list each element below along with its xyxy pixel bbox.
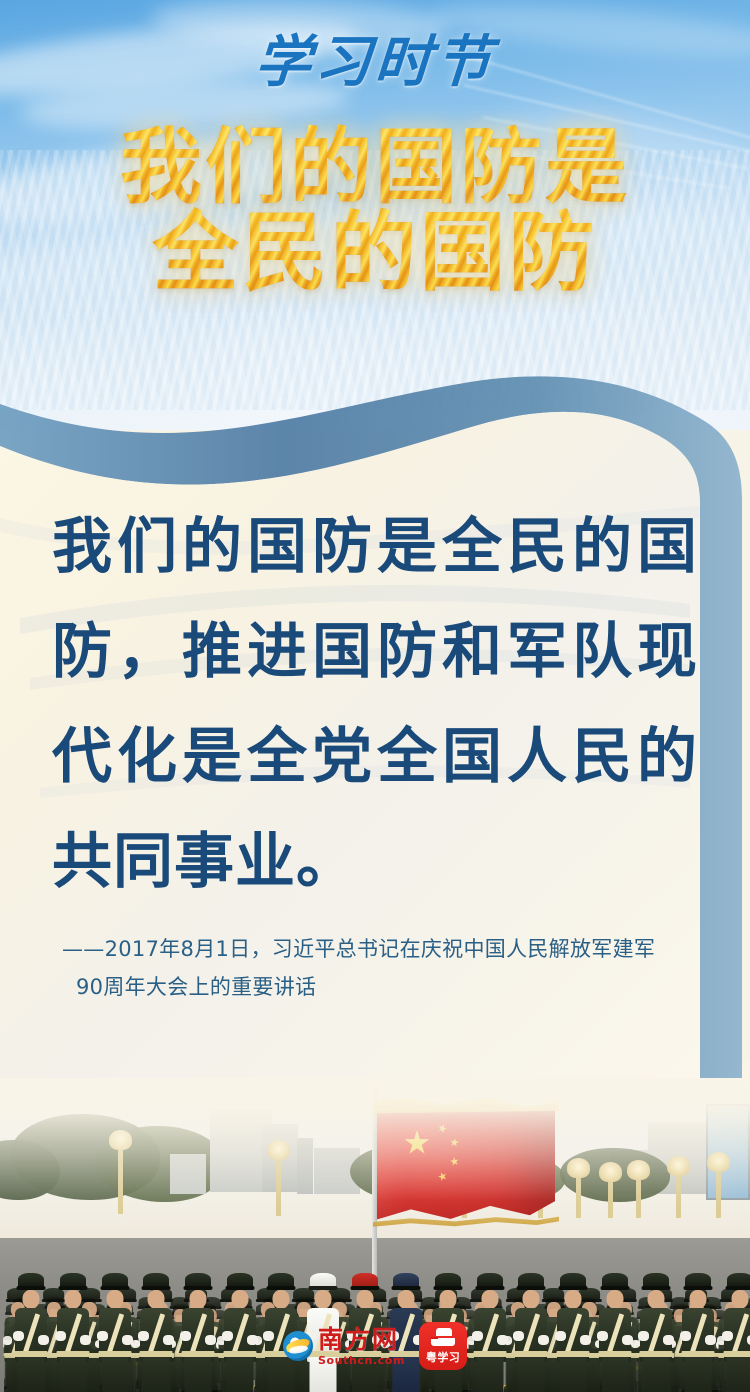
poster-root: 学习时节 我们的国防是 全民的国防: [0, 0, 750, 1392]
page-title-line-1: 我们的国防是: [0, 122, 750, 212]
quote-source-line-1: ——2017年8月1日，习近平总书记在庆祝中国人民解放军建军: [62, 937, 655, 961]
building-decoration: [170, 1154, 206, 1194]
brand-wordmark: 学习时节: [0, 34, 750, 90]
building-decoration: [297, 1138, 313, 1194]
southcn-mark-icon: [283, 1331, 313, 1361]
southcn-name-cn: 南方网: [318, 1327, 405, 1352]
china-flag-icon: [375, 1102, 555, 1220]
page-title: 我们的国防是 全民的国防: [0, 122, 750, 301]
yuexuexi-mark-icon: [431, 1328, 455, 1347]
southcn-logo[interactable]: 南方网 Southcn.com: [283, 1327, 405, 1366]
page-title-line-2: 全民的国防: [0, 206, 750, 301]
southcn-logo-text: 南方网 Southcn.com: [318, 1327, 405, 1366]
street-lamp-icon: [118, 1146, 123, 1214]
yuexuexi-logo[interactable]: 粤学习: [419, 1322, 467, 1370]
street-lamp-icon: [276, 1156, 281, 1216]
quote-text: 我们的国防是全民的国防，推进国防和军队现代化是全党全国人民的共同事业。: [52, 495, 698, 915]
quote-source-line-2: 90周年大会上的重要讲话: [62, 968, 682, 1006]
quote-source: ——2017年8月1日，习近平总书记在庆祝中国人民解放军建军 90周年大会上的重…: [62, 930, 682, 1006]
southcn-name-en: Southcn.com: [318, 1355, 405, 1366]
yuexuexi-label: 粤学习: [426, 1349, 460, 1365]
footer-logos: 南方网 Southcn.com 粤学习: [0, 1322, 750, 1370]
brand-title: 学习时节: [253, 34, 497, 90]
